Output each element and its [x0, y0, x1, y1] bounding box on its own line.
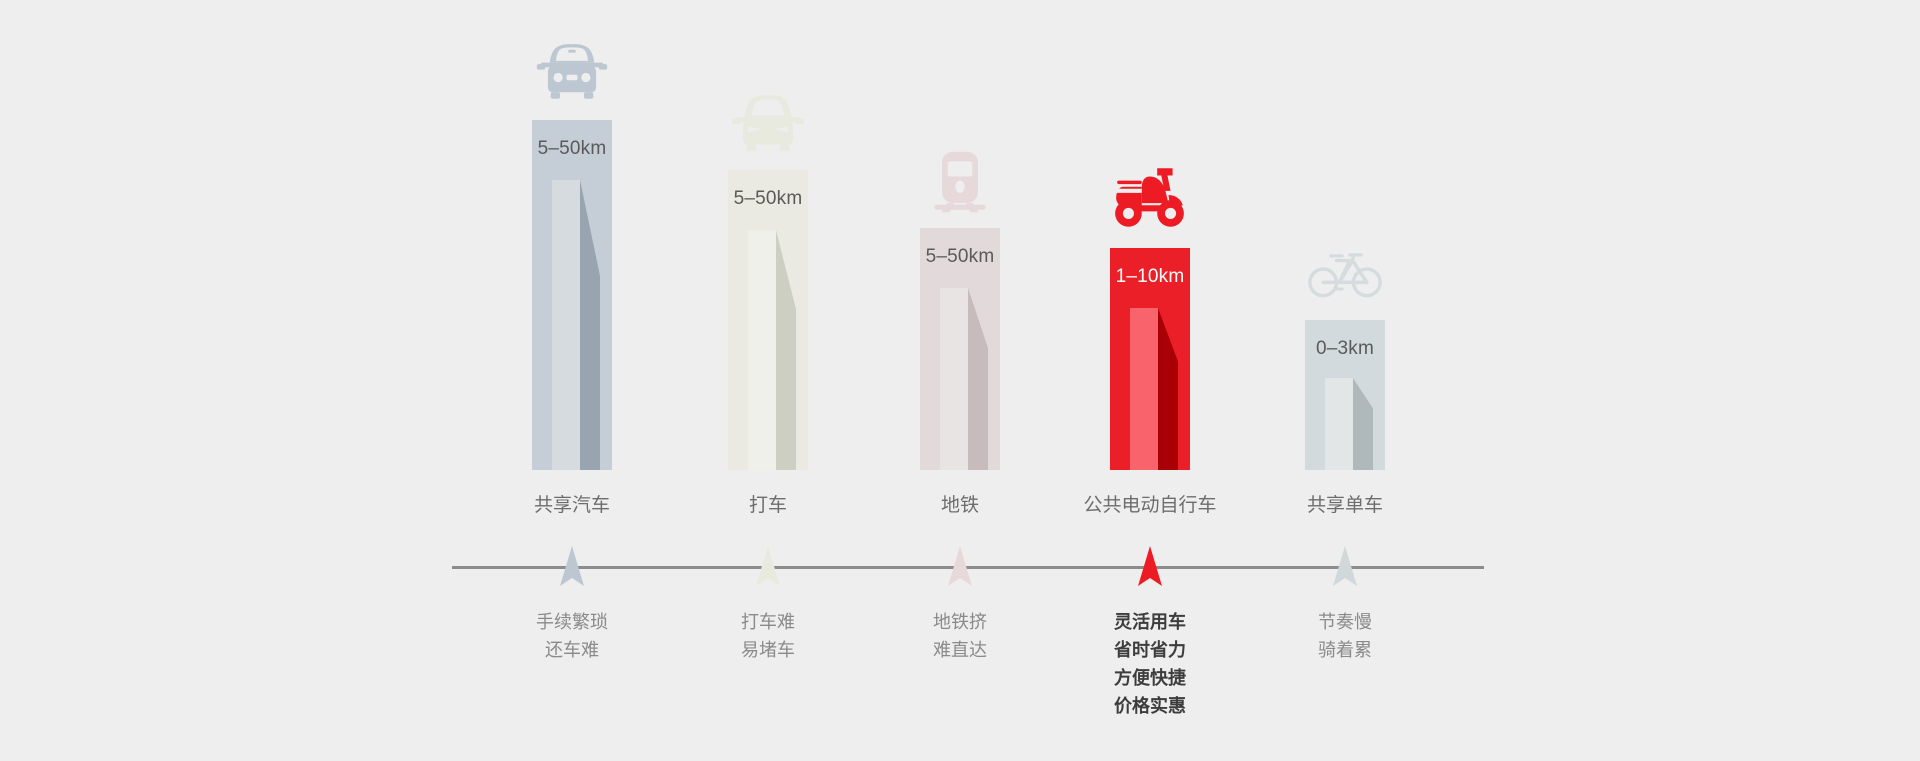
notes-taxi: 打车难易堵车: [668, 608, 868, 664]
category-label-taxi: 打车: [668, 490, 868, 517]
prism-side-face: [1353, 378, 1373, 470]
notes-bike-sharing: 节奏慢骑着累: [1245, 608, 1445, 664]
prism-front-face: [1130, 308, 1158, 470]
note-line: 节奏慢: [1245, 608, 1445, 636]
bar-metro[interactable]: 5–50km: [920, 228, 1000, 470]
bar-value-label: 5–50km: [728, 188, 808, 210]
note-line: 打车难: [668, 608, 868, 636]
note-line: 方便快捷: [1050, 664, 1250, 692]
category-label-public-ebike: 公共电动自行车: [1050, 490, 1250, 517]
notes-car-sharing: 手续繁琐还车难: [472, 608, 672, 664]
prism-side-face: [968, 288, 988, 470]
column-metro[interactable]: 5–50km地铁地铁挤难直达: [860, 0, 1060, 761]
column-bike-sharing[interactable]: 0–3km共享单车节奏慢骑着累: [1245, 0, 1445, 761]
prism-front-face: [940, 288, 968, 470]
note-line: 难直达: [860, 636, 1060, 664]
scooter-icon: [1050, 158, 1250, 236]
note-line: 灵活用车: [1050, 608, 1250, 636]
column-taxi[interactable]: 5–50km打车打车难易堵车: [668, 0, 868, 761]
bar-value-label: 0–3km: [1305, 338, 1385, 360]
bar-prism: [748, 230, 796, 470]
bar-value-label: 5–50km: [920, 246, 1000, 268]
bar-prism: [1325, 378, 1373, 470]
bar-car-sharing[interactable]: 5–50km: [532, 120, 612, 470]
axis-marker-car-sharing[interactable]: [557, 544, 587, 588]
bicycle-icon: [1245, 234, 1445, 308]
note-line: 价格实惠: [1050, 692, 1250, 720]
prism-front-face: [552, 180, 580, 470]
prism-front-face: [748, 230, 776, 470]
column-public-ebike[interactable]: 1–10km公共电动自行车灵活用车省时省力方便快捷价格实惠: [1050, 0, 1250, 761]
axis-marker-taxi[interactable]: [753, 544, 783, 588]
notes-public-ebike: 灵活用车省时省力方便快捷价格实惠: [1050, 608, 1250, 720]
bar-value-label: 5–50km: [532, 138, 612, 160]
category-label-bike-sharing: 共享单车: [1245, 490, 1445, 517]
bar-taxi[interactable]: 5–50km: [728, 170, 808, 470]
note-line: 手续繁琐: [472, 608, 672, 636]
prism-front-face: [1325, 378, 1353, 470]
column-car-sharing[interactable]: 5–50km共享汽车手续繁琐还车难: [472, 0, 672, 761]
note-line: 还车难: [472, 636, 672, 664]
axis-marker-metro[interactable]: [945, 544, 975, 588]
bar-prism: [1130, 308, 1178, 470]
note-line: 地铁挤: [860, 608, 1060, 636]
notes-metro: 地铁挤难直达: [860, 608, 1060, 664]
prism-side-face: [1158, 308, 1178, 470]
category-label-car-sharing: 共享汽车: [472, 490, 672, 517]
bar-bike-sharing[interactable]: 0–3km: [1305, 320, 1385, 470]
bar-public-ebike[interactable]: 1–10km: [1110, 248, 1190, 470]
bar-prism: [940, 288, 988, 470]
metro-train-icon: [860, 150, 1060, 216]
bar-prism: [552, 180, 600, 470]
prism-side-face: [776, 230, 796, 470]
infographic-canvas: 5–50km共享汽车手续繁琐还车难5–50km打车打车难易堵车5–50km地铁地…: [0, 0, 1920, 761]
prism-side-face: [580, 180, 600, 470]
axis-marker-bike-sharing[interactable]: [1330, 544, 1360, 588]
bar-value-label: 1–10km: [1110, 266, 1190, 288]
car-front-icon: [472, 34, 672, 108]
note-line: 易堵车: [668, 636, 868, 664]
axis-marker-public-ebike[interactable]: [1135, 544, 1165, 588]
category-label-metro: 地铁: [860, 490, 1060, 517]
taxi-car-icon: [668, 86, 868, 158]
note-line: 省时省力: [1050, 636, 1250, 664]
note-line: 骑着累: [1245, 636, 1445, 664]
